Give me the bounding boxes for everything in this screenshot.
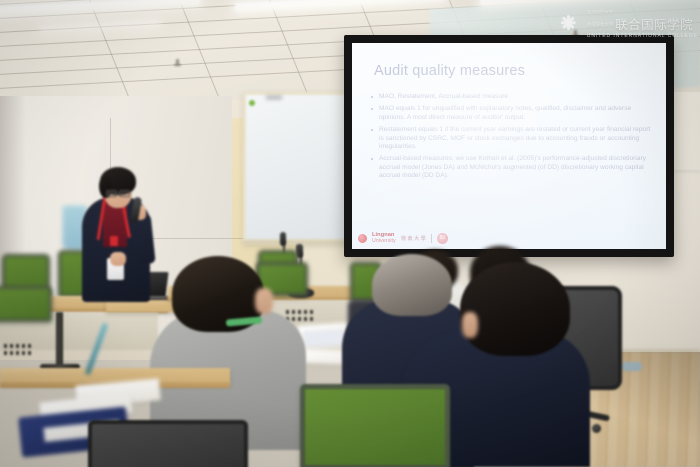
attendee-hair xyxy=(460,262,570,356)
slide-footer-logo: Lingnan University 嶺 南 大 學 50 xyxy=(358,232,448,244)
projected-slide: Audit quality measures MAO, Restatement,… xyxy=(352,43,666,249)
desk-leg xyxy=(56,312,63,370)
whiteboard-note xyxy=(266,96,282,99)
slide-bullet: Accrual-based measures: we use Kothari e… xyxy=(370,155,652,180)
chair-caster xyxy=(592,424,601,433)
slide-bullet: MAO, Restatement, Accrual-based measure xyxy=(370,93,652,101)
presenter-hand xyxy=(110,252,126,266)
attendee-ear xyxy=(462,312,478,338)
anniversary-badge: 50 xyxy=(437,233,448,244)
lingnan-wordmark: Lingnan University xyxy=(372,232,396,244)
microphone-head-icon xyxy=(280,232,286,246)
glasses-lens xyxy=(106,190,117,197)
printed-table xyxy=(304,329,345,347)
lingnan-subtitle: University xyxy=(372,238,396,244)
lingnan-chinese: 嶺 南 大 學 xyxy=(401,235,426,242)
slide-bullet: Restatement equals 1 if the current year… xyxy=(370,126,652,151)
seminar-room-photo: Audit quality measures MAO, Restatement,… xyxy=(0,0,700,467)
whiteboard-tray xyxy=(243,239,348,244)
slide-title: Audit quality measures xyxy=(374,63,525,79)
attendee-gray-hair-icon xyxy=(372,254,452,316)
lanyard-clip xyxy=(110,236,118,246)
uic-watermark: 北京师范大学香港浸会大学联合国际学院 UNITED INTERNATIONAL … xyxy=(554,6,698,39)
slide-bullet: MAO equals 1 for unqualified with explan… xyxy=(370,105,652,122)
lingnan-crest-icon xyxy=(358,234,367,243)
cable-grommet xyxy=(4,344,31,355)
logo-divider xyxy=(431,234,432,243)
attendee-ear-cheek xyxy=(255,288,273,314)
whiteboard-magnet-icon xyxy=(249,100,255,106)
uic-watermark-text: 北京师范大学香港浸会大学联合国际学院 UNITED INTERNATIONAL … xyxy=(587,6,698,39)
slide-body: MAO, Restatement, Accrual-based measure … xyxy=(370,93,652,185)
glasses-bridge xyxy=(117,193,120,194)
glasses-lens xyxy=(119,190,130,197)
uic-parent-schools: 北京师范大学香港浸会大学 xyxy=(587,10,613,28)
uic-snowflake-logo-icon xyxy=(554,8,584,38)
whiteboard xyxy=(243,92,348,244)
cable-grommet xyxy=(286,310,313,321)
uic-name-english: UNITED INTERNATIONAL COLLEGE xyxy=(587,34,698,39)
sprinkler-head-icon xyxy=(176,59,179,66)
uic-name-chinese: 北京师范大学香港浸会大学联合国际学院 xyxy=(587,6,698,31)
